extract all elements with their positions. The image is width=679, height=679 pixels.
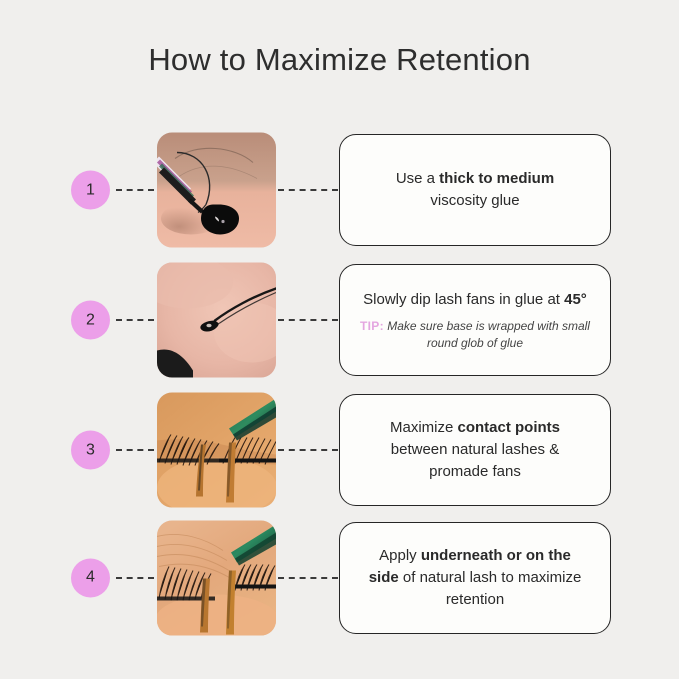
step-number-badge-3: 3	[71, 431, 110, 470]
step-number-label: 1	[86, 182, 95, 198]
page-title: How to Maximize Retention	[0, 42, 679, 78]
photo-illustration-3	[157, 393, 276, 508]
connector-thumb-to-card-4	[278, 577, 338, 579]
step-card-2: Slowly dip lash fans in glue at 45° TIP:…	[339, 264, 611, 376]
step-text-4: Apply underneath or on theside of natura…	[369, 545, 582, 611]
steps-list: 1	[0, 125, 679, 640]
connector-thumb-to-card-2	[278, 319, 338, 321]
lash-application-underneath-photo	[157, 520, 276, 635]
connector-thumb-to-card-1	[278, 189, 338, 191]
list-item: 3	[0, 385, 679, 515]
step-card-1: Use a thick to mediumviscosity glue	[339, 134, 611, 246]
connector-thumb-to-card-3	[278, 449, 338, 451]
step-number-label: 3	[86, 442, 95, 458]
lash-contact-points-photo	[157, 393, 276, 508]
step-number-label: 2	[86, 312, 95, 328]
connector-badge-to-thumb-2	[116, 319, 154, 321]
step-number-badge-2: 2	[71, 301, 110, 340]
step-card-4: Apply underneath or on theside of natura…	[339, 522, 611, 634]
step-tip-2: TIP: Make sure base is wrapped with smal…	[354, 318, 596, 352]
step-text-2: Slowly dip lash fans in glue at 45°	[363, 289, 587, 311]
tip-text: Make sure base is wrapped with small rou…	[387, 319, 590, 350]
step-number-badge-1: 1	[71, 171, 110, 210]
step-number-label: 4	[86, 570, 95, 586]
connector-badge-to-thumb-4	[116, 577, 154, 579]
infographic-canvas: How to Maximize Retention 1	[0, 0, 679, 679]
step-card-3: Maximize contact pointsbetween natural l…	[339, 394, 611, 506]
lash-fan-dipped-in-glue-photo	[157, 263, 276, 378]
connector-badge-to-thumb-1	[116, 189, 154, 191]
list-item: 2	[0, 255, 679, 385]
photo-illustration-2	[157, 263, 276, 378]
step-text-3: Maximize contact pointsbetween natural l…	[390, 417, 560, 483]
step-number-badge-4: 4	[71, 558, 110, 597]
photo-illustration-1	[157, 133, 276, 248]
list-item: 4	[0, 515, 679, 640]
step-text-1: Use a thick to mediumviscosity glue	[396, 168, 554, 212]
photo-illustration-4	[157, 520, 276, 635]
list-item: 1	[0, 125, 679, 255]
connector-badge-to-thumb-3	[116, 449, 154, 451]
glue-drop-and-tweezers-photo	[157, 133, 276, 248]
tip-label: TIP:	[360, 319, 384, 333]
